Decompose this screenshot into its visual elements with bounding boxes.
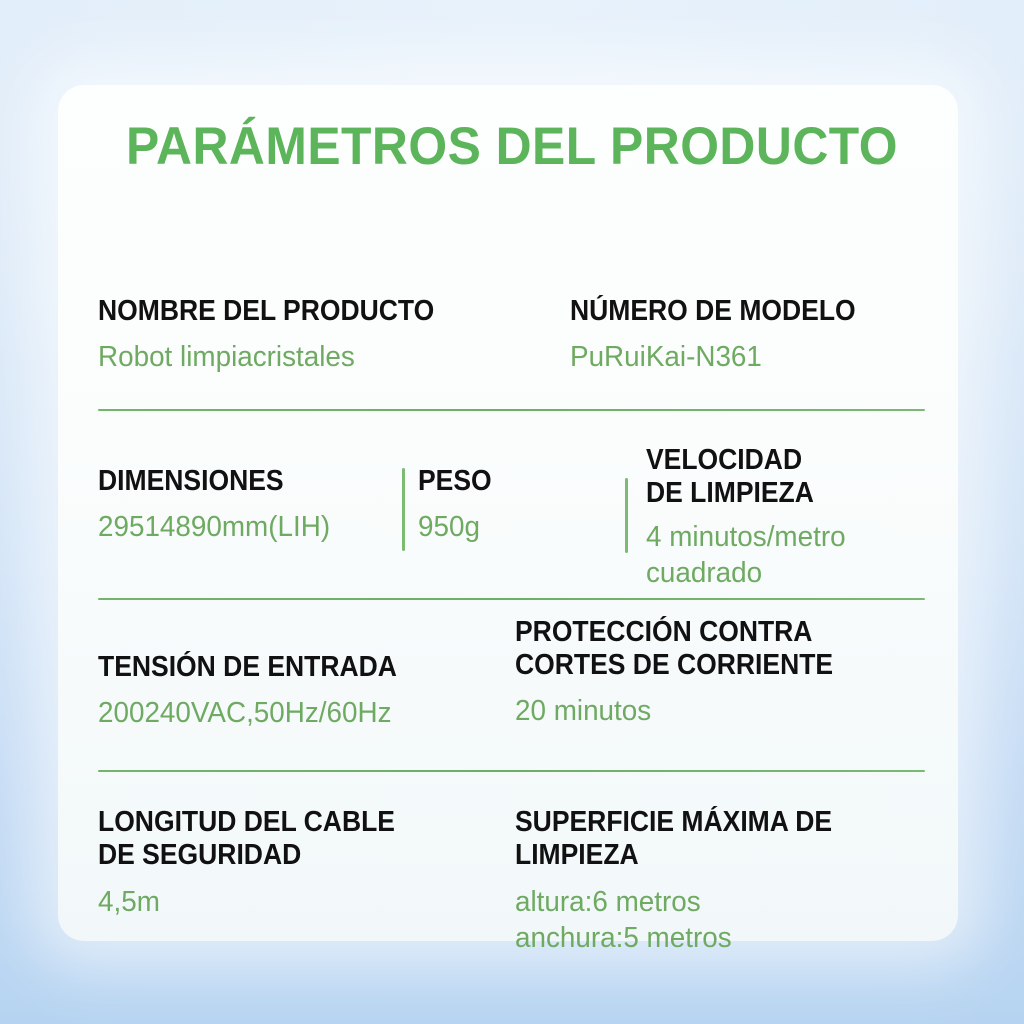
divider-row-1 <box>98 409 925 411</box>
spec-value-dimensions: 29514890mm(LIH) <box>98 509 330 545</box>
spec-field-power-outage-protection: PROTECCIÓN CONTRA CORTES DE CORRIENTE 20… <box>515 616 857 729</box>
spec-value-input-voltage: 200240VAC,50Hz/60Hz <box>98 695 407 731</box>
spec-value-model-number: PuRuiKai-N361 <box>570 339 865 375</box>
spec-label-max-cleaning-surface-line1: SUPERFICIE MÁXIMA DE <box>515 806 832 839</box>
spec-field-weight: PESO 950g <box>418 465 497 545</box>
spec-label-power-outage-protection-line1: PROTECCIÓN CONTRA <box>515 616 833 649</box>
spec-label-max-cleaning-surface-line2: LIMPIEZA <box>515 839 832 872</box>
spec-label-weight: PESO <box>418 465 492 498</box>
spec-value-safety-cable-length: 4,5m <box>98 884 405 920</box>
spec-value-product-name: Robot limpiacristales <box>98 339 445 375</box>
spec-value-power-outage-protection: 20 minutos <box>515 693 843 729</box>
spec-field-max-cleaning-surface: SUPERFICIE MÁXIMA DE LIMPIEZA altura:6 m… <box>515 806 856 956</box>
spec-field-dimensions: DIMENSIONES 29514890mm(LIH) <box>98 465 340 545</box>
spec-field-model-number: NÚMERO DE MODELO PuRuiKai-N361 <box>570 295 877 375</box>
spec-label-cleaning-speed-line1: VELOCIDAD <box>646 444 839 477</box>
spec-field-cleaning-speed: VELOCIDAD DE LIMPIEZA 4 minutos/metro cu… <box>646 444 854 591</box>
spec-field-product-name: NOMBRE DEL PRODUCTO Robot limpiacristale… <box>98 295 460 375</box>
spec-value-weight: 950g <box>418 509 494 545</box>
spec-label-safety-cable-length-line2: DE SEGURIDAD <box>98 839 395 872</box>
page-title: PARÁMETROS DEL PRODUCTO <box>31 118 994 176</box>
spec-value-cleaning-speed-line2: cuadrado <box>646 555 846 591</box>
spec-value-max-cleaning-surface-line1: altura:6 metros <box>515 884 842 920</box>
divider-row-3 <box>98 770 925 772</box>
divider-weight-speed <box>625 478 628 553</box>
spec-label-safety-cable-length-line1: LONGITUD DEL CABLE <box>98 806 395 839</box>
divider-dimensions-weight <box>402 468 405 551</box>
spec-value-cleaning-speed-line1: 4 minutos/metro <box>646 519 846 555</box>
spec-field-input-voltage: TENSIÓN DE ENTRADA 200240VAC,50Hz/60Hz <box>98 651 419 731</box>
spec-field-safety-cable-length: LONGITUD DEL CABLE DE SEGURIDAD 4,5m <box>98 806 417 920</box>
spec-label-input-voltage: TENSIÓN DE ENTRADA <box>98 651 397 684</box>
divider-row-2 <box>98 598 925 600</box>
spec-label-product-name: NOMBRE DEL PRODUCTO <box>98 295 434 328</box>
spec-label-model-number: NÚMERO DE MODELO <box>570 295 856 328</box>
spec-label-power-outage-protection-line2: CORTES DE CORRIENTE <box>515 649 833 682</box>
spec-label-dimensions: DIMENSIONES <box>98 465 323 498</box>
spec-label-cleaning-speed-line2: DE LIMPIEZA <box>646 477 839 510</box>
spec-value-max-cleaning-surface-line2: anchura:5 metros <box>515 920 842 956</box>
